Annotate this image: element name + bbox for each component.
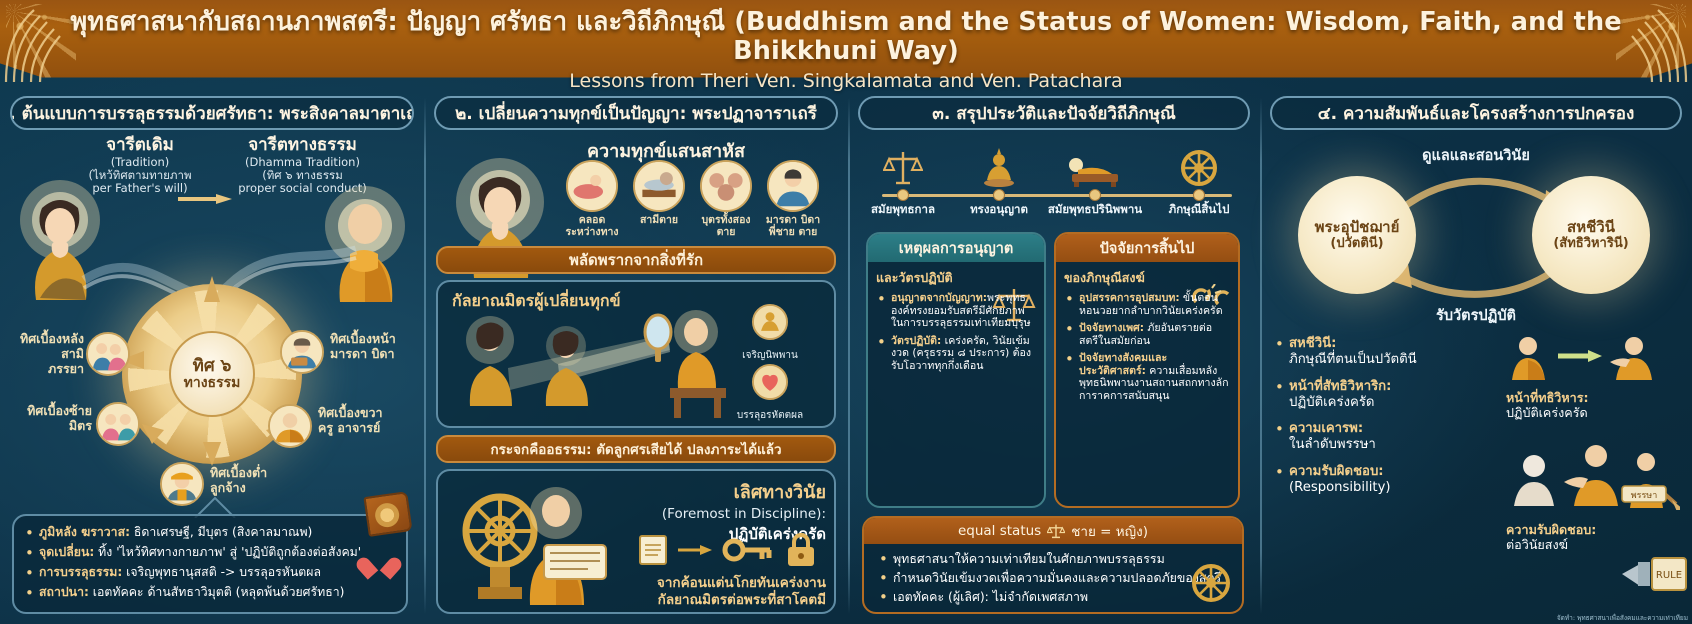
permission-reasons-sub: และวัตรปฏิบัติ bbox=[876, 268, 1036, 288]
list-item: ความรับผิดชอบ:(Responsibility) bbox=[1274, 464, 1502, 496]
direction-back-label: ทิศเบื้องหลัง สามิ ภรรยา bbox=[14, 332, 84, 376]
column-3-heading: ๓. สรุปประวัติและปัจจัยวิถีภิกษุณี bbox=[858, 96, 1250, 130]
suffering-item: บุตรทั้งสอง ตาย bbox=[698, 160, 754, 246]
children-death-icon bbox=[700, 160, 752, 212]
equal-status-bullets: พุทธศาสนาให้ความเท่าเทียมในศักยภาพบรรลุธ… bbox=[864, 544, 1242, 604]
timeline-item-1: สมัยพุทธกาล bbox=[854, 136, 952, 216]
col1-summary-card: ภูมิหลัง ฆราวาส: ธิดาเศรษฐี, มีบุตร (สิง… bbox=[12, 514, 408, 614]
cycle-bottom-label: รับวัตรปฏิบัติ bbox=[1260, 304, 1692, 327]
timeline-dot bbox=[897, 189, 909, 201]
suffering-caption: บุตรทั้งสอง ตาย bbox=[698, 215, 754, 239]
divider-2-3 bbox=[848, 98, 850, 614]
title-block: พุทธศาสนากับสถานภาพสตรี: ปัญญา ศรัทธา แล… bbox=[0, 8, 1692, 92]
list-item: พุทธศาสนาให้ความเท่าเทียมในศักยภาพบรรลุธ… bbox=[878, 551, 1232, 566]
decline-factors-body: ของภิกษุณีสงฆ์ อุปสรรคการอุปสมบท: ขั้นตอ… bbox=[1056, 262, 1238, 411]
credit-text: จัดทำ: พุทธศาสนาเพื่อสังคมและความเท่าเที… bbox=[1557, 613, 1688, 623]
column-4-heading: ๔. ความสัมพันธ์และโครงสร้างการปกครอง bbox=[1270, 96, 1682, 130]
friends-icon bbox=[96, 402, 140, 446]
mirror-banner: กระจกคืออธรรม: ตัดลูกศรเสียได้ ปลงภาระได… bbox=[436, 435, 836, 463]
equal-status-box: equal status ชาย = หญิง) พุทธศาสนาให้ควา… bbox=[862, 516, 1244, 614]
list-item: ปัจจัยทางเพศ: ภัยอันตรายต่อสตรีในสมัยก่อ… bbox=[1064, 322, 1230, 347]
rule-book-icon: RULE bbox=[1618, 548, 1690, 606]
discipline-footer-2: กัลยาณมิตรต่อพระที่สาโคตมี bbox=[596, 592, 826, 608]
discipline-footer: จากค้อนแต่นโกยทันเคร่งงาน กัลยาณมิตรต่อพ… bbox=[596, 575, 826, 608]
direction-below-label: ทิศเบื้องต่ำ ลูกจ้าง bbox=[210, 466, 330, 496]
arrow-icon bbox=[678, 545, 712, 555]
key-icon bbox=[725, 541, 770, 559]
permission-reasons-body: และวัตรปฏิบัติ อนุญาตจากบัญญาท:พระพุทธอง… bbox=[868, 262, 1044, 381]
suffering-icons: คลอด ระหว่างทาง สามีตาย บุตรทั้งสอง ตาย … bbox=[564, 160, 834, 246]
svg-text:RULE: RULE bbox=[1656, 570, 1682, 581]
list-item: อุปสรรคการอุปสมบท: ขั้นตอนหอนวอยากลำบากว… bbox=[1064, 292, 1230, 317]
bhikkhuni-timeline: สมัยพุทธกาล ทรงอนุญาต สมัยพุทธปรินิพพาน bbox=[854, 136, 1254, 228]
columns-container: ๑. ต้นแบบการบรรลุธรรมด้วยศรัทธา: พระสิงค… bbox=[0, 88, 1692, 624]
attainment-label-1: เจริญนิพพาน bbox=[710, 348, 830, 363]
list-item: ภูมิหลัง ฆราวาส: ธิดาเศรษฐี, มีบุตร (สิง… bbox=[24, 525, 394, 540]
svg-text:พรรษา: พรรษา bbox=[1631, 491, 1658, 501]
family-death-icon bbox=[767, 160, 819, 212]
divider-1-2 bbox=[424, 98, 426, 614]
page-subtitle: Lessons from Theri Ven. Singkalamata and… bbox=[0, 70, 1692, 92]
direction-right: ทิศเบื้องขวา ครู อาจารย์ bbox=[268, 400, 410, 466]
monk-teaching-icon: พรรษา bbox=[1504, 440, 1680, 510]
suffering-caption: สามีตาย bbox=[631, 215, 687, 227]
timeline-item-2: ทรงอนุญาต bbox=[950, 136, 1048, 216]
mirror-teaching-scene bbox=[448, 306, 728, 424]
suffering-caption: คลอด ระหว่างทาง bbox=[564, 215, 620, 239]
direction-front-label: ทิศเบื้องหน้า มารดา บิดา bbox=[330, 332, 414, 362]
preceptor-circle: พระอุปัชฌาย์ (ปวัตตินี) bbox=[1298, 176, 1416, 294]
direction-left-label: ทิศเบื้องซ้าย มิตร bbox=[20, 404, 92, 434]
permission-reasons-box: เหตุผลการอนุญาต และวัตรปฏิบัติ อนุญาตจาก… bbox=[866, 232, 1046, 508]
equal-status-head: equal status ชาย = หญิง) bbox=[864, 518, 1242, 544]
list-item: กำหนดวินัยเข้มงวดเพื่อความมั่นคงและความป… bbox=[878, 570, 1232, 585]
preceptor-relationship-cycle: ดูแลและสอนวินัย พระอุปัชฌาย์ (ปวัตตินี) … bbox=[1260, 134, 1692, 334]
buddha-sitting-icon bbox=[950, 136, 1048, 188]
discipline-subtitle: (Foremost in Discipline): bbox=[626, 506, 826, 522]
direction-left: ทิศเบื้องซ้าย มิตร bbox=[20, 398, 144, 464]
direction-front: ทิศเบื้องหน้า มารดา บิดา bbox=[280, 324, 410, 394]
husband-death-icon bbox=[633, 160, 685, 212]
column-1: ๑. ต้นแบบการบรรลุธรรมด้วยศรัทธา: พระสิงค… bbox=[0, 88, 424, 624]
list-item: หน้าที่สัทธิวิหาริก:ปฏิบัติเคร่งครัด bbox=[1274, 379, 1502, 411]
timeline-label: ภิกษุณีสิ้นไป bbox=[1150, 203, 1248, 216]
permission-reasons-head: เหตุผลการอนุญาต bbox=[868, 234, 1044, 262]
column-2: ๒. เปลี่ยนความทุกข์เป็นปัญญา: พระปฏาจารา… bbox=[424, 88, 848, 624]
kalyanamitta-card: กัลยาณมิตรผู้เปลี่ยนทุกข์ bbox=[436, 280, 836, 428]
permission-reasons-bullets: อนุญาตจากบัญญาท:พระพุทธองค์ทรงยอมรับสตรี… bbox=[876, 292, 1036, 372]
timeline-dot bbox=[1193, 189, 1205, 201]
duty-block-1: หน้าที่ทธิวิหาร: ปฏิบัติเคร่งครัด bbox=[1506, 390, 1692, 420]
list-item: ปัจจัยทางสังคมและประวัติศาสตร์: ความเสื่… bbox=[1064, 352, 1230, 402]
timeline-item-4: ภิกษุณีสิ้นไป bbox=[1150, 136, 1248, 216]
decline-factors-bullets: อุปสรรคการอุปสมบท: ขั้นตอนหอนวอยากลำบากว… bbox=[1064, 292, 1230, 402]
suffering-caption: มารดา บิดา พี่ชาย ตาย bbox=[765, 215, 821, 239]
page-title: พุทธศาสนากับสถานภาพสตรี: ปัญญา ศรัทธา แล… bbox=[0, 8, 1692, 65]
dharma-wheel-icon bbox=[1150, 136, 1248, 188]
suffering-item: สามีตาย bbox=[631, 160, 687, 246]
buddha-reclining-icon bbox=[1046, 136, 1144, 188]
duties-bullets: สหชีวินี:ภิกษุณีที่ตนเป็นปวัตตินี หน้าที… bbox=[1274, 336, 1502, 496]
timeline-label: ทรงอนุญาต bbox=[950, 203, 1048, 216]
discipline-icon-row bbox=[636, 533, 822, 567]
suffering-item: มารดา บิดา พี่ชาย ตาย bbox=[765, 160, 821, 246]
compass-hub: ทิศ ๖ ทางธรรม bbox=[169, 331, 255, 417]
discipline-footer-1: จากค้อนแต่นโกยทันเคร่งงาน bbox=[596, 575, 826, 591]
column-4: ๔. ความสัมพันธ์และโครงสร้างการปกครอง ดูแ… bbox=[1260, 88, 1692, 624]
list-item: จุดเปลี่ยน: ทิ้ง 'ไหว้ทิศทางกายภาพ' สู่ … bbox=[24, 545, 394, 560]
list-item: สหชีวินี:ภิกษุณีที่ตนเป็นปวัตตินี bbox=[1274, 336, 1502, 368]
column-1-heading: ๑. ต้นแบบการบรรลุธรรมด้วยศรัทธา: พระสิงค… bbox=[10, 96, 414, 130]
decline-factors-box: ปัจจัยการสิ้นไป ของภิกษุณีสงฆ์ อุปสรรคกา… bbox=[1054, 232, 1240, 508]
teacher-monk-icon bbox=[268, 404, 312, 448]
column-2-heading: ๒. เปลี่ยนความทุกข์เป็นปัญญา: พระปฏาจารา… bbox=[434, 96, 838, 130]
attainment-label-2: บรรลุอรหัตตผล bbox=[710, 408, 830, 423]
equal-status-label: equal status bbox=[958, 523, 1041, 539]
discipline-title: เลิศทางวินัย bbox=[626, 477, 826, 506]
equal-status-suffix: ชาย = หญิง) bbox=[1071, 520, 1148, 542]
parents-icon bbox=[280, 330, 324, 374]
decline-factors-head: ปัจจัยการสิ้นไป bbox=[1056, 234, 1238, 262]
buddha-gold-icon bbox=[752, 304, 788, 340]
column-3: ๓. สรุปประวัติและปัจจัยวิถีภิกษุณี สมัยพ… bbox=[848, 88, 1260, 624]
timeline-item-3: สมัยพุทธปรินิพพาน bbox=[1046, 136, 1144, 216]
heart-icon bbox=[752, 364, 788, 400]
list-item: ความเคารพ:ในลำดับพรรษา bbox=[1274, 421, 1502, 453]
col1-bullets: ภูมิหลัง ฆราวาส: ธิดาเศรษฐี, มีบุตร (สิง… bbox=[24, 525, 394, 600]
direction-back: ทิศเบื้องหลัง สามิ ภรรยา bbox=[14, 326, 134, 396]
list-item: การบรรลุธรรม: เจริญพุทธานุสสติ -> บรรลุอ… bbox=[24, 565, 394, 580]
childbirth-icon bbox=[566, 160, 618, 212]
scroll-icon bbox=[640, 536, 666, 564]
infographic-root: พุทธศาสนากับสถานภาพสตรี: ปัญญา ศรัทธา แล… bbox=[0, 0, 1692, 624]
scales-icon bbox=[1047, 523, 1065, 539]
cohabitant-circle: สหชีวินี (สัทธิวิหารินี) bbox=[1532, 176, 1650, 294]
list-item: เอตทัคคะ (ผู้เลิศ): ไม่จำกัดเพศสภาพ bbox=[878, 589, 1232, 604]
dharma-wheel-icon bbox=[1190, 562, 1232, 604]
direction-right-label: ทิศเบื้องขวา ครู อาจารย์ bbox=[318, 406, 410, 436]
list-item: สถาปนา: เอตทัคคะ ด้านสัทธาวิมุตติ (หลุดพ… bbox=[24, 585, 394, 600]
couple-icon bbox=[86, 332, 130, 376]
timeline-label: สมัยพุทธปรินิพพาน bbox=[1046, 203, 1144, 216]
timeline-dot bbox=[1089, 189, 1101, 201]
monk-offering-icon bbox=[1504, 330, 1680, 386]
scales-icon bbox=[854, 136, 952, 188]
list-item: วัตรปฏิบัติ: เคร่งครัด, วินัยเข้มงวด (คร… bbox=[876, 335, 1036, 373]
separation-banner: พลัดพรากจากสิ่งที่รัก bbox=[436, 246, 836, 274]
suffering-item: คลอด ระหว่างทาง bbox=[564, 160, 620, 246]
timeline-dot bbox=[993, 189, 1005, 201]
duties-list: สหชีวินี:ภิกษุณีที่ตนเป็นปวัตตินี หน้าที… bbox=[1274, 336, 1502, 507]
discipline-card: เลิศทางวินัย (Foremost in Discipline): ป… bbox=[436, 469, 836, 614]
badge-pansa: พรรษา bbox=[1622, 486, 1666, 502]
monk-with-scroll-figure bbox=[452, 479, 620, 611]
lock-icon bbox=[788, 535, 814, 566]
timeline-label: สมัยพุทธกาล bbox=[854, 203, 952, 216]
list-item: อนุญาตจากบัญญาท:พระพุทธองค์ทรงยอมรับสตรี… bbox=[876, 292, 1036, 330]
